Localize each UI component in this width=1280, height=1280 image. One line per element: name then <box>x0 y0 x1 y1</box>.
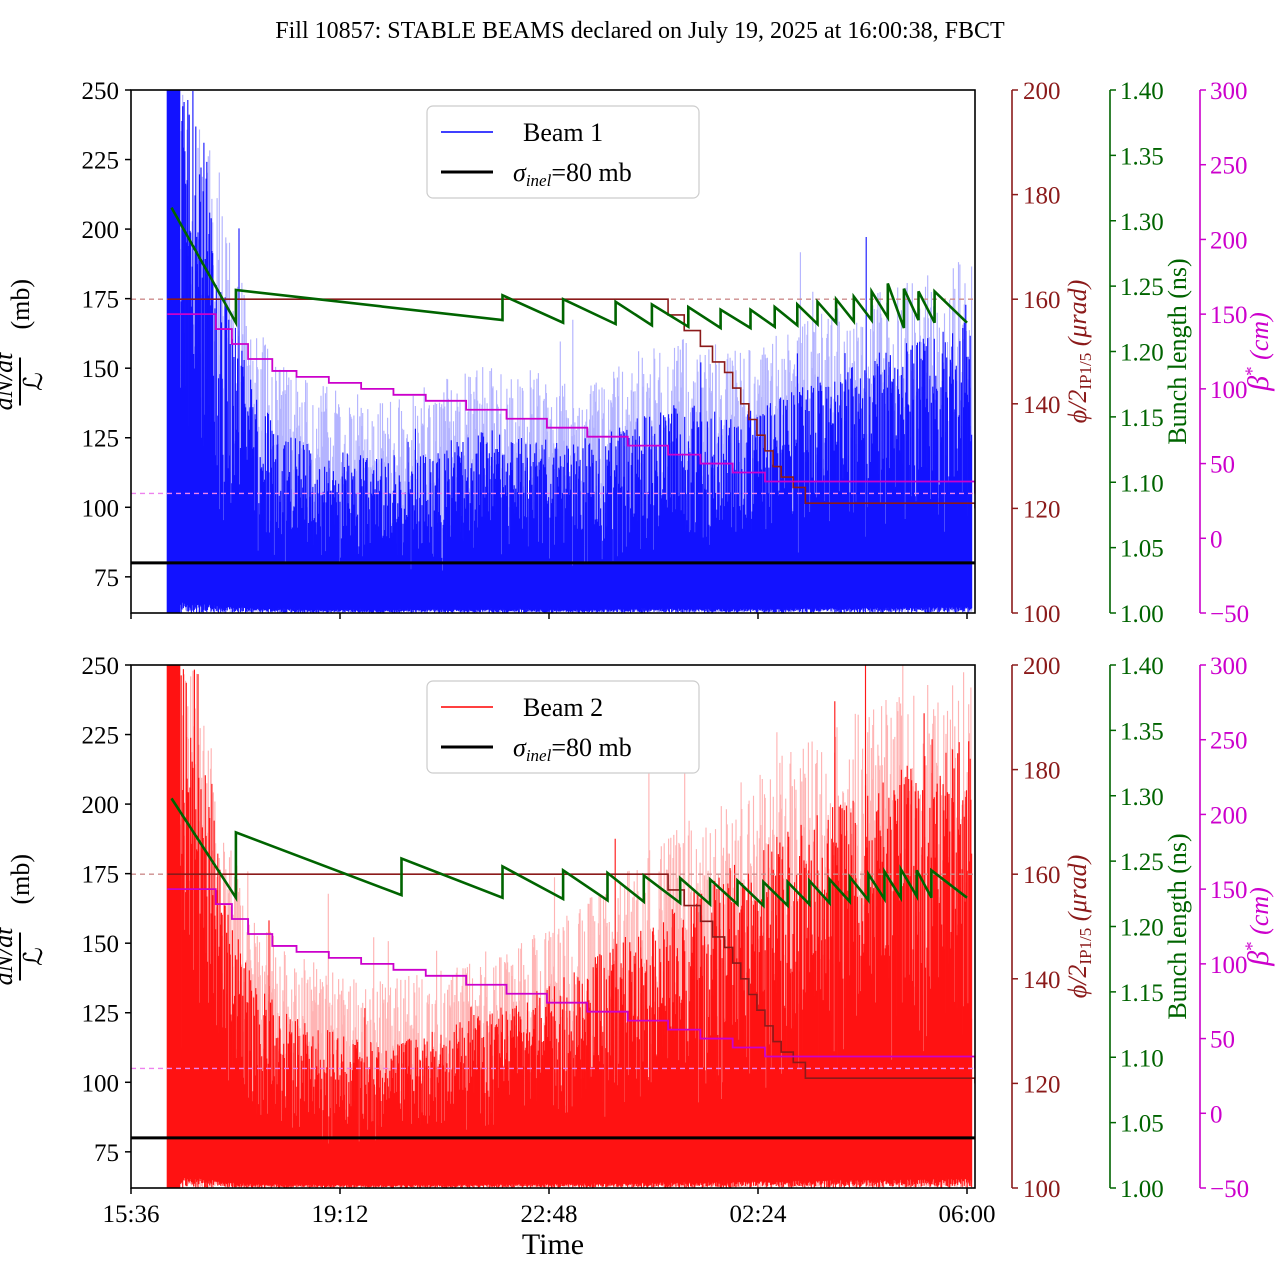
ytick-label-beta-star: 250 <box>1210 153 1248 180</box>
ytick-label-beta-star: 0 <box>1210 1101 1223 1128</box>
panel-1: 7510012515017520022525010012014016018020… <box>0 78 1275 628</box>
ytick-label-left: 150 <box>82 356 120 383</box>
ytick-label-phi: 140 <box>1023 392 1061 419</box>
ytick-label-beta-star: 50 <box>1210 1027 1235 1054</box>
y-axis-title-phi: ϕ/2IP1/5 (μrad) <box>1063 855 1095 999</box>
ytick-label-beta-star: 300 <box>1210 78 1248 105</box>
ytick-label-bunch-length: 1.30 <box>1120 784 1164 811</box>
ytick-label-left: 200 <box>82 217 120 244</box>
legend-label: Beam 2 <box>523 693 603 722</box>
ytick-label-bunch-length: 1.00 <box>1120 601 1164 628</box>
ytick-label-bunch-length: 1.35 <box>1120 718 1164 745</box>
ytick-label-left: 250 <box>82 78 120 105</box>
legend-label: Beam 1 <box>523 118 603 147</box>
ytick-label-phi: 100 <box>1023 601 1061 628</box>
ytick-label-left: 150 <box>82 931 120 958</box>
ytick-label-bunch-length: 1.10 <box>1120 1045 1164 1072</box>
ytick-label-phi: 160 <box>1023 862 1061 889</box>
ytick-label-phi: 200 <box>1023 78 1061 105</box>
ytick-label-phi: 140 <box>1023 967 1061 994</box>
ytick-label-phi: 120 <box>1023 496 1061 523</box>
fraction-group: dN/dtℒ <box>0 927 48 986</box>
fraction-group: dN/dtℒ <box>0 352 48 411</box>
y-axis-title-beta-star: β* (cm) <box>1242 312 1275 392</box>
xtick-label: 06:00 <box>939 1201 996 1228</box>
ytick-label-bunch-length: 1.05 <box>1120 536 1164 563</box>
ytick-label-phi: 100 <box>1023 1176 1061 1203</box>
ytick-label-beta-star: 50 <box>1210 452 1235 479</box>
y-axis-title-left: dN/dtℒ(mb) <box>0 279 48 410</box>
y-axis-title-left: dN/dtℒ(mb) <box>0 854 48 985</box>
ytick-label-bunch-length: 1.20 <box>1120 915 1164 942</box>
legend-panel-2: Beam 2σinel=80 mb <box>427 681 699 773</box>
ytick-label-beta-star: 250 <box>1210 728 1248 755</box>
fraction-denominator: ℒ <box>19 372 48 391</box>
ytick-label-bunch-length: 1.40 <box>1120 653 1164 680</box>
ytick-label-beta-star: −50 <box>1210 1176 1249 1203</box>
ytick-label-beta-star: 150 <box>1210 302 1248 329</box>
ytick-label-left: 250 <box>82 653 120 680</box>
y-axis-title-phi-text: ϕ/2IP1/5 (μrad) <box>1063 855 1095 999</box>
ytick-label-left: 175 <box>82 287 120 314</box>
ytick-label-left: 175 <box>82 862 120 889</box>
ytick-label-bunch-length: 1.20 <box>1120 340 1164 367</box>
y-axis-title-beta-star-text: β* (cm) <box>1242 887 1275 967</box>
ytick-label-bunch-length: 1.25 <box>1120 274 1164 301</box>
ytick-label-left: 200 <box>82 792 120 819</box>
ytick-label-bunch-length: 1.05 <box>1120 1111 1164 1138</box>
xtick-label: 19:12 <box>312 1201 369 1228</box>
ytick-label-beta-star: 200 <box>1210 227 1248 254</box>
ytick-label-left: 225 <box>82 723 120 750</box>
ytick-label-bunch-length: 1.30 <box>1120 209 1164 236</box>
y-axis-unit-left: (mb) <box>6 279 35 330</box>
ytick-label-left: 125 <box>82 426 120 453</box>
ytick-label-beta-star: −50 <box>1210 601 1249 628</box>
panel-2: 7510012515017520022525010012014016018020… <box>0 653 1275 1228</box>
ytick-label-bunch-length: 1.25 <box>1120 849 1164 876</box>
ytick-label-left: 75 <box>94 1140 119 1167</box>
chart-canvas: 7510012515017520022525010012014016018020… <box>0 0 1280 1280</box>
figure-root: Fill 10857: STABLE BEAMS declared on Jul… <box>0 0 1280 1280</box>
y-axis-title-beta-star-text: β* (cm) <box>1242 312 1275 392</box>
ytick-label-beta-star: 0 <box>1210 526 1223 553</box>
ytick-label-phi: 160 <box>1023 287 1061 314</box>
xtick-label: 02:24 <box>730 1201 787 1228</box>
ytick-label-bunch-length: 1.00 <box>1120 1176 1164 1203</box>
ytick-label-bunch-length: 1.35 <box>1120 143 1164 170</box>
ytick-label-left: 225 <box>82 148 120 175</box>
ytick-label-beta-star: 300 <box>1210 653 1248 680</box>
ytick-label-bunch-length: 1.15 <box>1120 405 1164 432</box>
y-axis-unit-left: (mb) <box>6 854 35 905</box>
series-bunch-length-sawtooth <box>172 208 967 328</box>
ytick-label-phi: 200 <box>1023 653 1061 680</box>
fraction-numerator: dN/dt <box>0 352 18 411</box>
ytick-label-left: 100 <box>82 1070 120 1097</box>
y-axis-title-bunch-length: Bunch length (ns) <box>1163 258 1192 444</box>
fraction-denominator: ℒ <box>19 947 48 966</box>
ytick-label-phi: 120 <box>1023 1071 1061 1098</box>
y-axis-title-phi: ϕ/2IP1/5 (μrad) <box>1063 280 1095 424</box>
ytick-label-phi: 180 <box>1023 758 1061 785</box>
ytick-label-bunch-length: 1.40 <box>1120 78 1164 105</box>
ytick-label-beta-star: 200 <box>1210 802 1248 829</box>
y-axis-title-bunch-length: Bunch length (ns) <box>1163 833 1192 1019</box>
x-axis-title: Time <box>522 1228 584 1261</box>
y-axis-title-beta-star: β* (cm) <box>1242 887 1275 967</box>
ytick-label-bunch-length: 1.10 <box>1120 470 1164 497</box>
ytick-label-bunch-length: 1.15 <box>1120 980 1164 1007</box>
xtick-label: 15:36 <box>103 1201 160 1228</box>
y-axis-title-phi-text: ϕ/2IP1/5 (μrad) <box>1063 280 1095 424</box>
ytick-label-left: 125 <box>82 1001 120 1028</box>
legend-panel-1: Beam 1σinel=80 mb <box>427 106 699 198</box>
fraction-numerator: dN/dt <box>0 927 18 986</box>
ytick-label-left: 75 <box>94 565 119 592</box>
ytick-label-phi: 180 <box>1023 183 1061 210</box>
ytick-label-left: 100 <box>82 495 120 522</box>
xtick-label: 22:48 <box>521 1201 578 1228</box>
ytick-label-beta-star: 150 <box>1210 877 1248 904</box>
